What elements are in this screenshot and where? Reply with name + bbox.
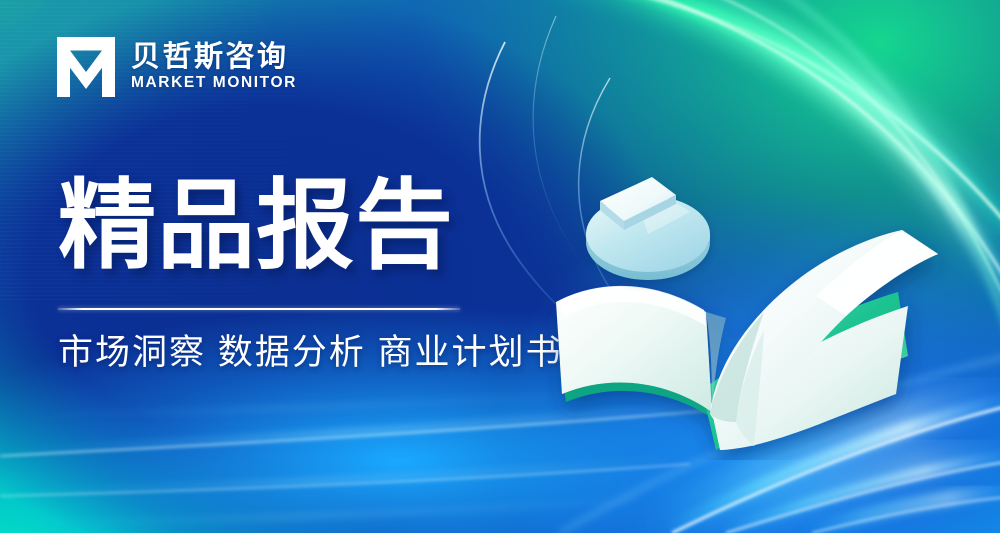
brand-logo: 贝哲斯咨询 MARKET MONITOR — [56, 36, 297, 98]
promo-banner: 贝哲斯咨询 MARKET MONITOR 精品报告 市场洞察 数据分析 商业计划… — [0, 0, 1000, 533]
title-divider — [58, 308, 460, 310]
market-monitor-m-icon — [56, 36, 116, 98]
subtitle-text: 市场洞察 数据分析 商业计划书 — [58, 335, 562, 370]
pie-chart-disc — [586, 177, 710, 280]
brand-name-cn: 贝哲斯咨询 — [131, 43, 297, 72]
brand-text: 贝哲斯咨询 MARKET MONITOR — [131, 43, 297, 91]
brand-name-en: MARKET MONITOR — [131, 75, 297, 91]
page-title: 精品报告 — [58, 176, 454, 274]
open-book-illustration — [540, 150, 970, 460]
